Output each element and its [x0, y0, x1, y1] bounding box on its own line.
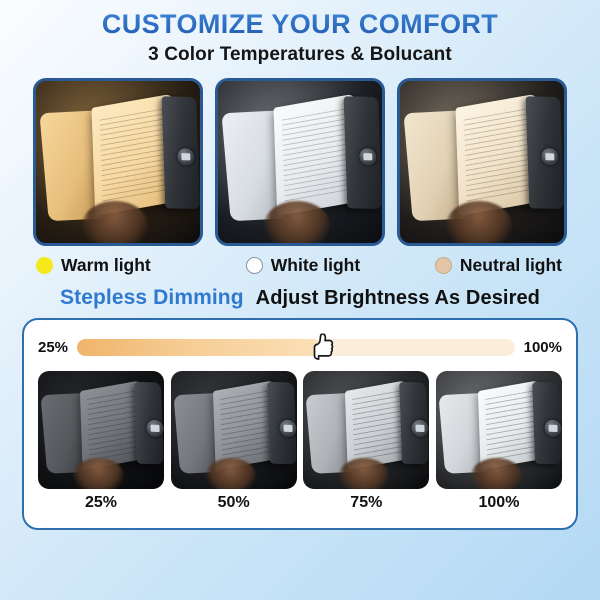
thumbs-up-icon[interactable]: [310, 334, 334, 361]
dimming-heading: Stepless Dimming Adjust Brightness As De…: [0, 286, 600, 310]
text-lines: [485, 390, 540, 461]
brightness-photo-25: [38, 371, 164, 489]
legend-item-white-light: White light: [209, 255, 390, 276]
device-body: [525, 96, 563, 209]
slider-track-remainder: [316, 339, 515, 356]
legend-label-warm: Warm light: [61, 255, 151, 276]
text-lines: [282, 107, 353, 203]
brightness-photo-100: [436, 371, 562, 489]
power-switch-icon: [176, 148, 193, 166]
device-body: [134, 382, 163, 464]
power-switch-icon: [146, 420, 163, 438]
book-light-illustration: [400, 81, 564, 243]
book-light-illustration: [303, 371, 429, 489]
book-light-illustration: [171, 371, 297, 489]
text-lines: [220, 390, 275, 461]
device-body: [399, 382, 428, 464]
neutral-light-dot-icon: [435, 257, 452, 274]
white-light-dot-icon: [246, 257, 263, 274]
hand-holding-device: [339, 458, 389, 489]
brightness-label-100: 100%: [436, 494, 562, 512]
legend-item-warm-light: Warm light: [36, 255, 209, 276]
device-body: [343, 96, 381, 209]
brightness-photo-50: [171, 371, 297, 489]
neutral-light-photo: [397, 78, 567, 246]
slider-min-label: 25%: [38, 339, 68, 356]
brightness-photo-row: [38, 371, 562, 489]
slider-track-fill: [77, 339, 322, 356]
hand-holding-device: [446, 201, 512, 243]
page-subtitle: 3 Color Temperatures & Bolucant: [0, 44, 600, 66]
brightness-slider-row: 25% 100%: [38, 331, 562, 363]
hand-holding-device: [206, 458, 256, 489]
device-body: [161, 96, 199, 209]
legend-item-neutral-light: Neutral light: [389, 255, 564, 276]
power-switch-icon: [278, 420, 295, 438]
brightness-label-row: 25% 50% 75% 100%: [38, 494, 562, 512]
brightness-label-25: 25%: [38, 494, 164, 512]
power-switch-icon: [358, 148, 375, 166]
brightness-label-50: 50%: [171, 494, 297, 512]
power-switch-icon: [411, 420, 428, 438]
book-light-illustration: [38, 371, 164, 489]
power-switch-icon: [544, 420, 561, 438]
device-body: [532, 382, 561, 464]
legend-label-neutral: Neutral light: [460, 255, 562, 276]
header: CUSTOMIZE YOUR COMFORT 3 Color Temperatu…: [0, 0, 600, 66]
color-temperature-photo-row: [0, 78, 600, 246]
hand-holding-device: [82, 201, 148, 243]
book-light-illustration: [436, 371, 562, 489]
hand-holding-device: [264, 201, 330, 243]
dimming-heading-primary: Stepless Dimming: [60, 286, 244, 310]
hand-holding-device: [73, 458, 123, 489]
hand-holding-device: [471, 458, 521, 489]
dimming-heading-secondary: Adjust Brightness As Desired: [256, 287, 540, 310]
white-light-photo: [215, 78, 385, 246]
warm-light-photo: [33, 78, 203, 246]
power-switch-icon: [540, 148, 557, 166]
color-temperature-legend: Warm light White light Neutral light: [0, 255, 600, 276]
brightness-label-75: 75%: [303, 494, 429, 512]
legend-label-white: White light: [271, 255, 360, 276]
book-light-illustration: [218, 81, 382, 243]
text-lines: [87, 390, 142, 461]
brightness-photo-75: [303, 371, 429, 489]
warm-light-dot-icon: [36, 257, 53, 274]
page-title: CUSTOMIZE YOUR COMFORT: [0, 9, 600, 40]
brightness-slider[interactable]: [77, 339, 515, 356]
slider-max-label: 100%: [524, 339, 562, 356]
book-light-illustration: [36, 81, 200, 243]
text-lines: [464, 107, 535, 203]
device-body: [267, 382, 296, 464]
text-lines: [352, 390, 407, 461]
text-lines: [100, 107, 171, 203]
dimming-panel: 25% 100%: [22, 318, 578, 530]
